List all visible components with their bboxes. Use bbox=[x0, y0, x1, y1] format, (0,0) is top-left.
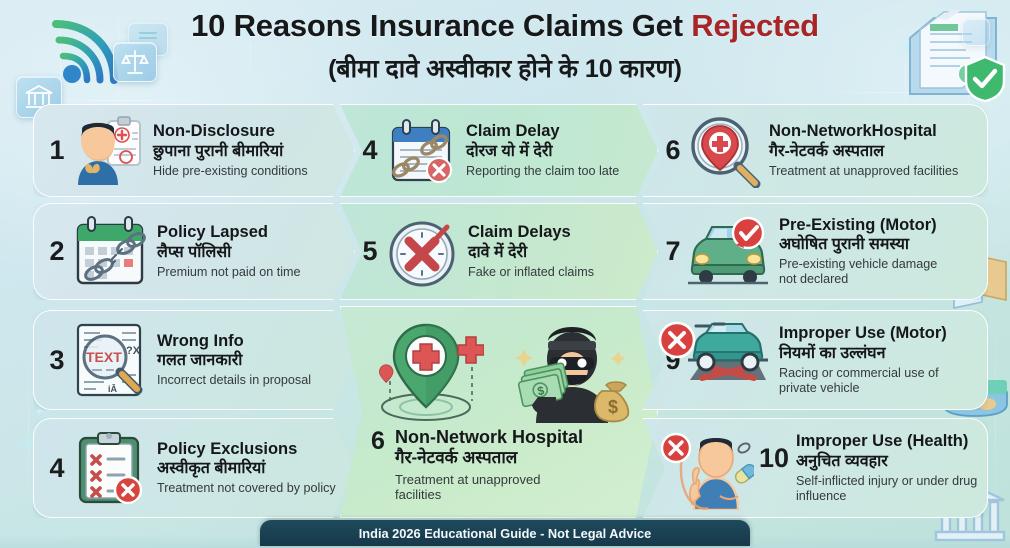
svg-text:?X: ?X bbox=[126, 345, 141, 357]
hospital-location-pin-icon bbox=[368, 319, 484, 423]
calendar-broken-chain-icon bbox=[70, 213, 150, 291]
svg-text:$: $ bbox=[608, 397, 618, 417]
clock-red-x-icon bbox=[383, 213, 461, 291]
reason-text-block: Non-Disclosure छुपाना पुरानी बीमारियां H… bbox=[146, 122, 354, 179]
reason-number: 10 bbox=[754, 443, 794, 474]
calendar-chain-x-icon bbox=[383, 114, 459, 188]
footer-disclaimer: India 2026 Educational Guide - Not Legal… bbox=[260, 520, 750, 546]
red-x-badge-icon bbox=[655, 318, 699, 362]
reason-text-block: Wrong Info गलत जानकारी Incorrect details… bbox=[150, 332, 354, 389]
reason-text-block: Policy Lapsed लैप्स पॉलिसी Premium not p… bbox=[150, 223, 354, 280]
person-pills-red-x-icon bbox=[658, 426, 754, 510]
reason-subtitle: Fake or inflated claims bbox=[468, 265, 651, 280]
reason-title-hi: नियमों का उल्लंघन bbox=[779, 344, 981, 363]
reason-title-hi: गलत जानकारी bbox=[157, 351, 348, 370]
reason-card-left-3[interactable]: 3 ?X iĀ TEXT Wrong Info bbox=[33, 310, 355, 410]
reason-title-en: Pre-Existing (Motor) bbox=[779, 216, 981, 234]
reason-title-en: Non-Disclosure bbox=[153, 122, 348, 140]
reason-title-en: Policy Lapsed bbox=[157, 223, 348, 241]
reason-card-middle-2[interactable]: 5 Claim Delays bbox=[340, 203, 658, 300]
reason-title-hi: गैर-नेटवर्क अस्पताल bbox=[769, 142, 981, 161]
reason-subtitle: Pre-existing vehicle damage not declared bbox=[779, 257, 951, 287]
reason-title-hi: अनुचित व्यवहार bbox=[796, 452, 981, 471]
reason-text-block: Improper Use (Health) अनुचित व्यवहार Sel… bbox=[794, 432, 987, 503]
clipboard-x-marks-icon bbox=[70, 428, 150, 508]
reason-number: 6 bbox=[660, 135, 686, 166]
reason-subtitle: Racing or commercial use of private vehi… bbox=[779, 366, 957, 396]
reason-text-block: Claim Delay दोरज यो में देरी Reporting t… bbox=[459, 122, 657, 179]
reason-title-en: Wrong Info bbox=[157, 332, 348, 350]
reason-number: 6 bbox=[365, 427, 391, 456]
reason-title-en: Improper Use (Motor) bbox=[779, 324, 981, 342]
title-accent-text: Rejected bbox=[691, 8, 819, 43]
reason-subtitle: Hide pre-existing conditions bbox=[153, 164, 348, 179]
reason-subtitle: Self-inflicted injury or under drug infl… bbox=[796, 474, 981, 504]
reason-number: 1 bbox=[44, 135, 70, 166]
reason-subtitle: Premium not paid on time bbox=[157, 265, 348, 280]
reason-title-hi: अघोषित पुरानी समस्या bbox=[779, 235, 981, 254]
reason-text-block: Policy Exclusions अस्वीकृत बीमारियां Tre… bbox=[150, 440, 354, 497]
title-main-text: 10 Reasons Insurance Claims Get bbox=[191, 8, 691, 43]
reason-number: 2 bbox=[44, 236, 70, 267]
footer-text: India 2026 Educational Guide - Not Legal… bbox=[359, 526, 652, 541]
reason-text-block: Improper Use (Motor) नियमों का उल्लंघन R… bbox=[772, 324, 987, 395]
reason-title-en: Policy Exclusions bbox=[157, 440, 348, 458]
reason-card-left-1[interactable]: 1 bbox=[33, 104, 355, 197]
reason-title-hi: दावे में देरी bbox=[468, 243, 651, 262]
reason-title-en: Claim Delays bbox=[468, 223, 651, 241]
reason-title-hi: गैर-नेटवर्क अस्पताल bbox=[395, 448, 627, 468]
reason-card-right-4[interactable]: 10 Improper Use (Health) अनुचित व्यवहार … bbox=[643, 418, 988, 518]
reason-card-left-4[interactable]: 4 Policy bbox=[33, 418, 355, 518]
reason-number: 5 bbox=[357, 236, 383, 267]
reason-card-right-2[interactable]: 7 bbox=[643, 203, 988, 300]
reason-subtitle: Treatment not covered by policy bbox=[157, 481, 348, 496]
reason-title-hi: अस्वीकृत बीमारियां bbox=[157, 459, 348, 478]
reason-title-en: Non-NetworkHospital bbox=[769, 122, 981, 140]
infographic-canvas: ✦ ✦ 10 Reasons Insurance Claims Get Reje… bbox=[0, 0, 1010, 548]
reason-number: 3 bbox=[44, 345, 70, 376]
thief-money-bag-icon: $ $ bbox=[510, 319, 630, 423]
green-car-check-icon bbox=[686, 215, 772, 289]
reason-card-left-2[interactable]: 2 bbox=[33, 203, 355, 300]
hospital-pin-and-thief-money-icon: $ $ bbox=[341, 317, 657, 425]
reason-title-en: Claim Delay bbox=[466, 122, 651, 140]
reason-text-block: Pre-Existing (Motor) अघोषित पुरानी समस्य… bbox=[772, 216, 987, 287]
reason-text-block: Claim Delays दावे में देरी Fake or infla… bbox=[461, 223, 657, 280]
svg-text:iĀ: iĀ bbox=[108, 384, 118, 394]
page-title: 10 Reasons Insurance Claims Get Rejected bbox=[0, 8, 1010, 44]
reason-text-block: 6 Non-Network Hospital गैर-नेटवर्क अस्पत… bbox=[365, 427, 627, 502]
reason-title-en: Improper Use (Health) bbox=[796, 432, 981, 450]
reason-title-hi: छुपाना पुरानी बीमारियां bbox=[153, 142, 348, 161]
reason-card-middle-1[interactable]: 4 bbox=[340, 104, 658, 197]
reason-subtitle: Reporting the claim too late bbox=[466, 164, 651, 179]
reason-title-en: Non-Network Hospital bbox=[395, 427, 627, 447]
reason-card-right-1[interactable]: 6 Non-NetworkHospital गैर-नेटवर्क अस्पता bbox=[643, 104, 988, 197]
reason-title-hi: लैप्स पॉलिसी bbox=[157, 243, 348, 262]
reason-number: 4 bbox=[44, 453, 70, 484]
face-palm-person-icon bbox=[70, 113, 146, 189]
magnifier-hospital-pin-icon bbox=[686, 114, 762, 188]
reason-text-block: Non-NetworkHospital गैर-नेटवर्क अस्पताल … bbox=[762, 122, 987, 179]
reason-number: 7 bbox=[660, 236, 686, 267]
reason-title-hi: दोरज यो में देरी bbox=[466, 142, 651, 161]
reason-subtitle: Incorrect details in proposal bbox=[157, 373, 348, 388]
page-subtitle-hindi: (बीमा दावे अस्वीकार होने के 10 कारण) bbox=[0, 51, 1010, 85]
reason-number: 4 bbox=[357, 135, 383, 166]
reason-subtitle: Treatment at unapproved facilities bbox=[769, 164, 981, 179]
svg-text:TEXT: TEXT bbox=[86, 349, 122, 365]
reason-subtitle: Treatment at unapproved facilities bbox=[395, 472, 585, 503]
header: 10 Reasons Insurance Claims Get Rejected… bbox=[0, 0, 1010, 96]
document-magnifier-text-icon: ?X iĀ TEXT bbox=[70, 320, 150, 400]
reason-card-middle-3[interactable]: $ $ 6 Non-Network Hospital गैर-नेटवर्क अ… bbox=[340, 306, 658, 518]
